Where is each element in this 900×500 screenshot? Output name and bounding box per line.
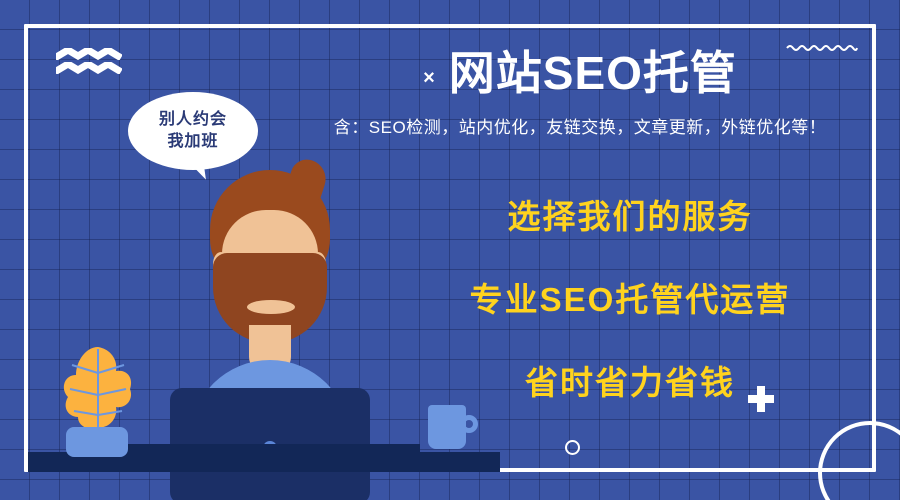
plant-pot-shape (66, 427, 128, 457)
page-title: 网站SEO托管 (449, 48, 737, 99)
mouth-shape (247, 300, 295, 314)
highlight-list: 选择我们的服务 专业SEO托管代运营 省时省力省钱 (420, 190, 840, 404)
plant-illustration (60, 345, 136, 455)
speech-bubble-line-1: 别人约会 (159, 109, 227, 131)
header-block: × 网站SEO托管 含：SEO检测，站内优化，友链交换，文章更新，外链优化等！ (300, 48, 860, 138)
man-at-laptop-illustration (150, 160, 410, 460)
plus-icon (748, 386, 774, 412)
highlight-line-1: 选择我们的服务 (420, 190, 840, 238)
speech-bubble-line-2: 我加班 (167, 131, 218, 153)
highlight-line-3: 省时省力省钱 (420, 356, 840, 404)
close-icon: × (423, 68, 435, 88)
page-subtitle: 含：SEO检测，站内优化，友链交换，文章更新，外链优化等！ (300, 113, 860, 138)
title-row: × 网站SEO托管 (300, 48, 860, 99)
mug-body-shape (428, 405, 466, 449)
speech-bubble: 别人约会 我加班 (128, 92, 258, 170)
circle-outline-icon (565, 440, 580, 455)
seo-promo-banner: × 网站SEO托管 含：SEO检测，站内优化，友链交换，文章更新，外链优化等！ … (0, 0, 900, 500)
highlight-line-2: 专业SEO托管代运营 (420, 273, 840, 321)
plant-leaf-icon (60, 345, 136, 437)
wave-icon (56, 48, 122, 60)
coffee-mug-icon (428, 405, 478, 453)
wave-icon (56, 62, 122, 74)
